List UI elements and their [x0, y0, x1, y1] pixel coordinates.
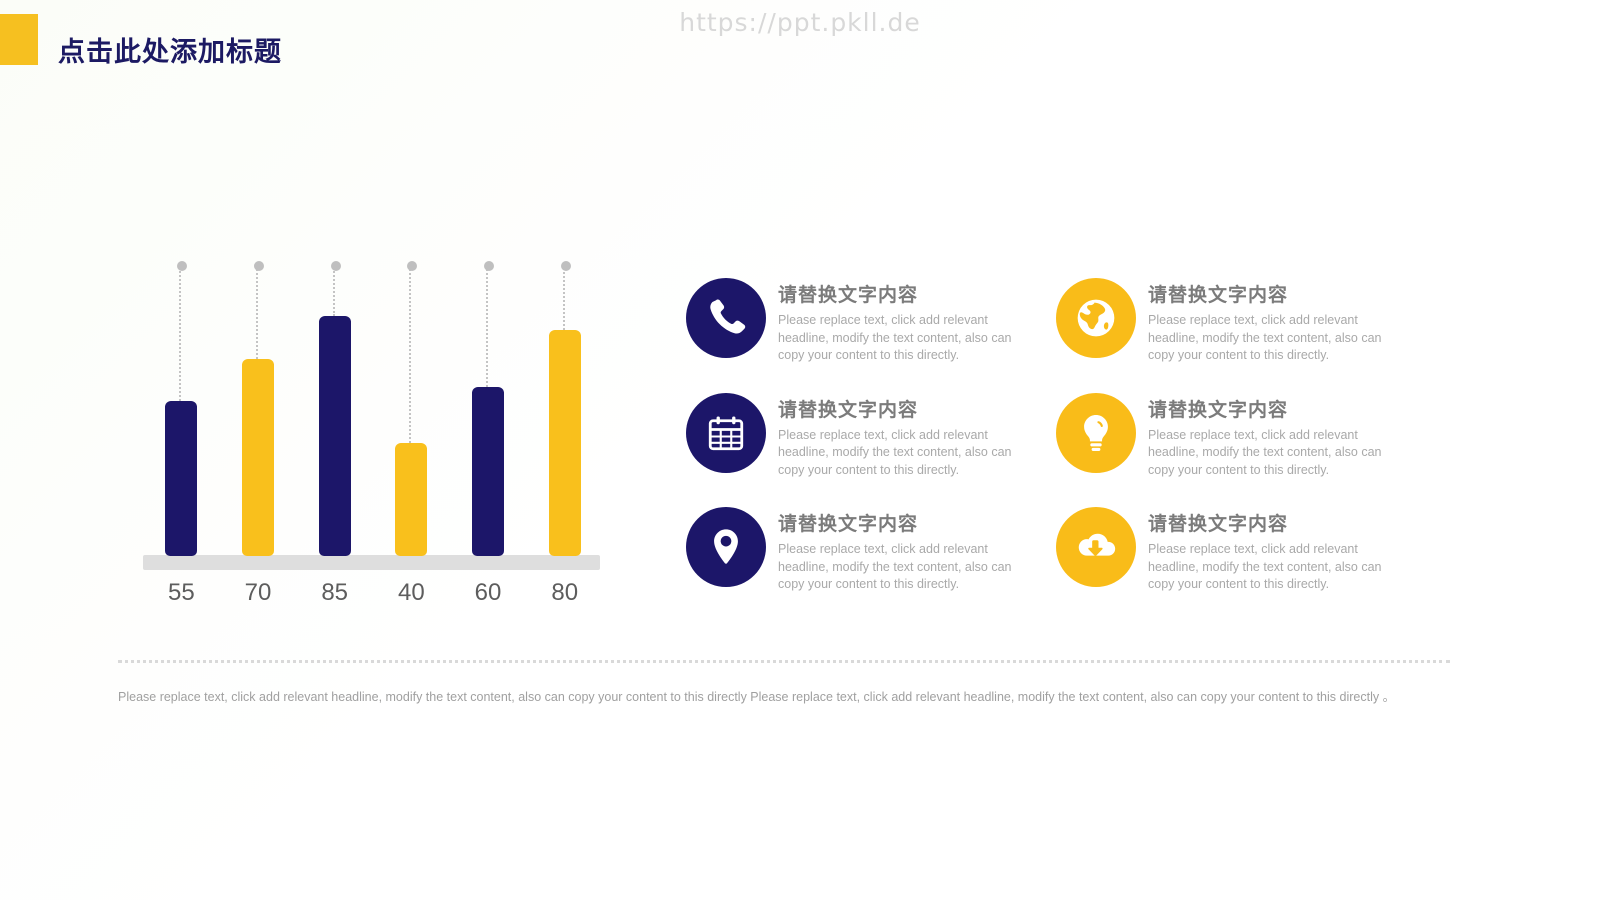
feature-item-calendar[interactable]: 请替换文字内容 Please replace text, click add r…: [686, 393, 1046, 480]
feature-grid: 请替换文字内容 Please replace text, click add r…: [686, 278, 1446, 622]
bar-leader-dot: [561, 261, 571, 271]
location-pin-icon-badge: [686, 507, 766, 587]
feature-text: 请替换文字内容 Please replace text, click add r…: [778, 507, 1014, 594]
feature-title: 请替换文字内容: [1148, 395, 1384, 422]
bar-chart-tick-labels: 557085406080: [143, 576, 603, 610]
bar: [395, 443, 427, 556]
bar-leader-dot: [331, 261, 341, 271]
feature-body: Please replace text, click add relevant …: [778, 541, 1014, 594]
bar-leader-line: [256, 264, 260, 359]
bar-value-label: 85: [296, 576, 373, 610]
feature-title: 请替换文字内容: [778, 395, 1014, 422]
feature-row: 请替换文字内容 Please replace text, click add r…: [686, 507, 1446, 622]
feature-title: 请替换文字内容: [1148, 280, 1384, 307]
location-pin-icon: [704, 525, 748, 569]
feature-body: Please replace text, click add relevant …: [1148, 541, 1384, 594]
feature-item-globe[interactable]: 请替换文字内容 Please replace text, click add r…: [1056, 278, 1416, 365]
feature-title: 请替换文字内容: [778, 280, 1014, 307]
bar-value-label: 55: [143, 576, 220, 610]
bar-column: [143, 256, 220, 556]
bar-column: [450, 256, 527, 556]
feature-text: 请替换文字内容 Please replace text, click add r…: [1148, 278, 1384, 365]
calendar-icon: [705, 412, 747, 454]
bar-column: [526, 256, 603, 556]
bar-column: [373, 256, 450, 556]
globe-icon-badge: [1056, 278, 1136, 358]
bar-leader-line: [333, 264, 337, 316]
bar-leader-line: [409, 264, 413, 443]
bar-column: [296, 256, 373, 556]
bar-leader-dot: [177, 261, 187, 271]
feature-text: 请替换文字内容 Please replace text, click add r…: [1148, 393, 1384, 480]
bar: [165, 401, 197, 556]
bar: [549, 330, 581, 556]
bar-value-label: 70: [220, 576, 297, 610]
feature-title: 请替换文字内容: [1148, 509, 1384, 536]
bar-leader-dot: [254, 261, 264, 271]
calendar-icon-badge: [686, 393, 766, 473]
feature-row: 请替换文字内容 Please replace text, click add r…: [686, 393, 1446, 508]
feature-body: Please replace text, click add relevant …: [778, 427, 1014, 480]
bar-leader-line: [486, 264, 490, 387]
feature-text: 请替换文字内容 Please replace text, click add r…: [1148, 507, 1384, 594]
bar: [242, 359, 274, 556]
watermark-text: https://ppt.pkll.de: [0, 8, 1600, 37]
feature-row: 请替换文字内容 Please replace text, click add r…: [686, 278, 1446, 393]
feature-body: Please replace text, click add relevant …: [1148, 427, 1384, 480]
feature-item-lightbulb[interactable]: 请替换文字内容 Please replace text, click add r…: [1056, 393, 1416, 480]
feature-text: 请替换文字内容 Please replace text, click add r…: [778, 393, 1014, 480]
bar: [472, 387, 504, 556]
feature-text: 请替换文字内容 Please replace text, click add r…: [778, 278, 1014, 365]
feature-item-location[interactable]: 请替换文字内容 Please replace text, click add r…: [686, 507, 1046, 594]
bar-leader-line: [563, 264, 567, 330]
bar-chart: 557085406080: [143, 270, 603, 610]
bar-leader-line: [179, 264, 183, 401]
phone-icon-badge: [686, 278, 766, 358]
feature-item-cloud-download[interactable]: 请替换文字内容 Please replace text, click add r…: [1056, 507, 1416, 594]
cloud-download-icon-badge: [1056, 507, 1136, 587]
feature-item-phone[interactable]: 请替换文字内容 Please replace text, click add r…: [686, 278, 1046, 365]
globe-icon: [1074, 296, 1118, 340]
bar-leader-dot: [484, 261, 494, 271]
bar-value-label: 40: [373, 576, 450, 610]
bar-value-label: 80: [526, 576, 603, 610]
bar-column: [220, 256, 297, 556]
slide-canvas: 点击此处添加标题 https://ppt.pkll.de 55708540608…: [0, 0, 1600, 900]
bar-leader-dot: [407, 261, 417, 271]
cloud-download-icon: [1073, 524, 1119, 570]
footer-text: Please replace text, click add relevant …: [118, 688, 1448, 706]
feature-body: Please replace text, click add relevant …: [778, 312, 1014, 365]
footer-divider: [118, 660, 1450, 663]
feature-title: 请替换文字内容: [778, 509, 1014, 536]
lightbulb-icon: [1074, 411, 1118, 455]
phone-icon: [704, 296, 748, 340]
lightbulb-icon-badge: [1056, 393, 1136, 473]
bar: [319, 316, 351, 556]
bar-chart-plot-area: [143, 256, 603, 556]
bar-value-label: 60: [450, 576, 527, 610]
feature-body: Please replace text, click add relevant …: [1148, 312, 1384, 365]
bar-chart-baseline: [143, 555, 600, 570]
